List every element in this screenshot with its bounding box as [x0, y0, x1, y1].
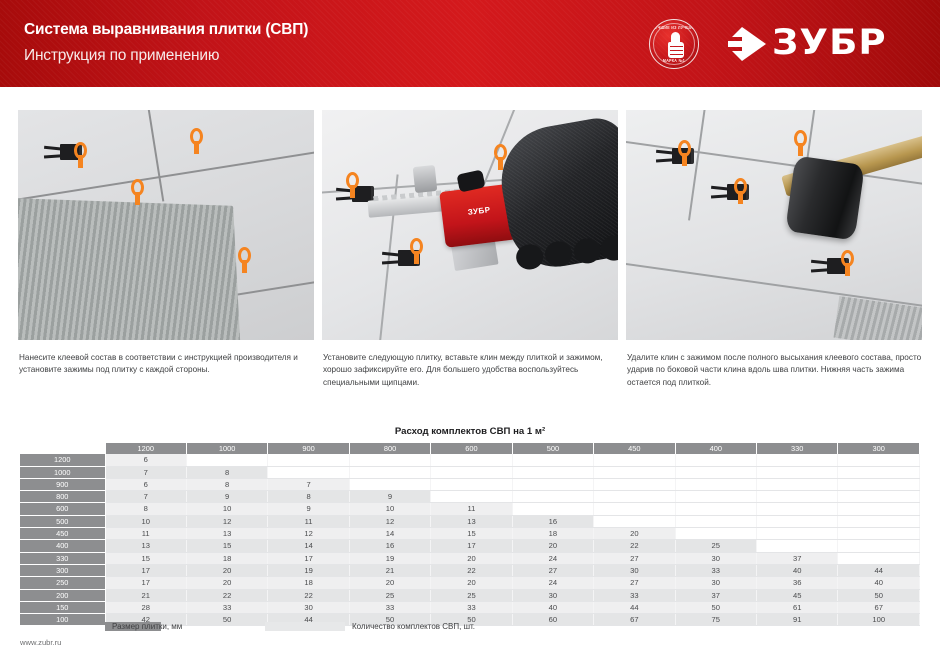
table-cell — [512, 454, 593, 466]
table-cell: 17 — [431, 540, 512, 552]
table-cell: 37 — [675, 589, 756, 601]
footer-website: www.zubr.ru — [20, 638, 61, 647]
table-cell: 33 — [431, 601, 512, 613]
table-cell: 22 — [268, 589, 349, 601]
table-cell — [757, 454, 838, 466]
table-cell: 50 — [675, 601, 756, 613]
table-cell: 9 — [268, 503, 349, 515]
table-cell — [431, 454, 512, 466]
clip-icon — [74, 142, 87, 168]
table-cell — [675, 491, 756, 503]
badge-bottom-text: МАРКА №1 — [650, 59, 698, 64]
table-cell: 8 — [268, 491, 349, 503]
table-cell: 25 — [675, 540, 756, 552]
table-cell: 40 — [512, 601, 593, 613]
table-cell: 11 — [105, 528, 186, 540]
table-cell — [757, 478, 838, 490]
table-row-header: 800 — [20, 491, 105, 503]
table-cell — [594, 454, 675, 466]
legend-label-kit-count: Количество комплектов СВП, шт. — [352, 620, 475, 633]
table-row: 45011131214151820 — [20, 528, 920, 540]
clip-icon — [678, 140, 691, 166]
table-row: 20021222225253033374550 — [20, 589, 920, 601]
table-row: 8007989 — [20, 491, 920, 503]
table-cell: 15 — [431, 528, 512, 540]
table-cell: 33 — [349, 601, 430, 613]
table-cell: 20 — [594, 528, 675, 540]
table-cell — [757, 515, 838, 527]
table-cell: 10 — [349, 503, 430, 515]
table-title: Расход комплектов СВП на 1 м² — [0, 426, 940, 437]
table-cell — [512, 503, 593, 515]
table-col-header: 400 — [675, 443, 756, 454]
table-row-header: 200 — [20, 589, 105, 601]
table-cell: 13 — [105, 540, 186, 552]
table-cell — [757, 540, 838, 552]
table-header-row: 12001000900800600500450400330300 — [20, 443, 920, 454]
clip-icon — [410, 238, 423, 264]
table-row: 25017201820202427303640 — [20, 577, 920, 589]
table-cell — [512, 478, 593, 490]
table-col-header: 1000 — [186, 443, 267, 454]
table-cell: 15 — [105, 552, 186, 564]
table-cell: 44 — [594, 601, 675, 613]
tool-screw — [413, 165, 438, 193]
table-cell: 22 — [594, 540, 675, 552]
table-cell: 9 — [186, 491, 267, 503]
table-cell — [594, 478, 675, 490]
table-cell: 30 — [512, 589, 593, 601]
table-cell: 20 — [349, 577, 430, 589]
table-col-header: 1200 — [105, 443, 186, 454]
table-cell — [594, 515, 675, 527]
table-cell: 45 — [757, 589, 838, 601]
table-cell: 33 — [594, 589, 675, 601]
table-cell: 33 — [186, 601, 267, 613]
table-row: 12006 — [20, 454, 920, 466]
clip-icon — [131, 179, 144, 205]
table-row: 500101211121316 — [20, 515, 920, 527]
page-subtitle: Инструкция по применению — [24, 47, 219, 65]
table-cell: 36 — [757, 577, 838, 589]
table-row-header: 1000 — [20, 466, 105, 478]
table-cell — [512, 466, 593, 478]
table-cell — [594, 466, 675, 478]
table-cell — [268, 454, 349, 466]
table-cell: 8 — [186, 466, 267, 478]
table-row: 900687 — [20, 478, 920, 490]
table-cell: 11 — [268, 515, 349, 527]
table-cell — [431, 491, 512, 503]
rubber-mallet-icon — [785, 155, 865, 240]
tool-brand-label: ЗУБР — [467, 205, 491, 217]
table-cell: 10 — [186, 503, 267, 515]
table-cell — [757, 491, 838, 503]
table-cell: 9 — [349, 491, 430, 503]
table-row: 15028333033334044506167 — [20, 601, 920, 613]
table-cell: 6 — [105, 454, 186, 466]
legend-swatch-kit-count — [265, 622, 345, 631]
table-cell: 28 — [105, 601, 186, 613]
table-cell — [838, 454, 920, 466]
table-body: 1200610007890068780079896008109101150010… — [20, 454, 920, 626]
header-banner: Система выравнивания плитки (СВП) Инстру… — [0, 0, 940, 87]
table-cell — [838, 491, 920, 503]
table-legend: Размер плитки, мм Количество комплектов … — [0, 620, 940, 634]
table-cell: 20 — [431, 577, 512, 589]
step-2-caption: Установите следующую плитку, вставьте кл… — [323, 352, 613, 389]
legend-label-tile-size: Размер плитки, мм — [112, 620, 182, 633]
table-cell: 40 — [838, 577, 920, 589]
clip-icon — [794, 130, 807, 156]
table-cell — [838, 540, 920, 552]
table-cell — [431, 466, 512, 478]
table-cell: 19 — [268, 564, 349, 576]
table-corner-cell — [20, 443, 105, 454]
table-col-header: 330 — [757, 443, 838, 454]
table-cell — [838, 528, 920, 540]
table-cell: 6 — [105, 478, 186, 490]
table-cell: 11 — [431, 503, 512, 515]
table-cell — [838, 478, 920, 490]
table-cell: 7 — [105, 491, 186, 503]
table-cell: 17 — [105, 564, 186, 576]
table-cell — [757, 528, 838, 540]
table-cell: 25 — [431, 589, 512, 601]
table-cell — [349, 466, 430, 478]
table-cell — [594, 503, 675, 515]
badge-top-text: ЛУЧШИЕ ИЗ ЛУЧШИХ — [650, 25, 698, 30]
table-cell: 13 — [431, 515, 512, 527]
table-cell — [512, 491, 593, 503]
table-cell: 16 — [512, 515, 593, 527]
table-row: 330151817192024273037 — [20, 552, 920, 564]
clip-icon — [190, 128, 203, 154]
step-2-photo: ЗУБР — [322, 110, 618, 340]
table-cell: 27 — [594, 552, 675, 564]
table-row-header: 150 — [20, 601, 105, 613]
table-cell: 22 — [431, 564, 512, 576]
table-col-header: 300 — [838, 443, 920, 454]
table-cell: 40 — [757, 564, 838, 576]
table-cell: 20 — [186, 577, 267, 589]
table-row-header: 500 — [20, 515, 105, 527]
table-cell: 12 — [268, 528, 349, 540]
table-cell — [675, 478, 756, 490]
table-cell: 19 — [349, 552, 430, 564]
table-cell: 30 — [594, 564, 675, 576]
table-cell — [675, 466, 756, 478]
table-col-header: 900 — [268, 443, 349, 454]
table-row-header: 600 — [20, 503, 105, 515]
table-cell: 24 — [512, 552, 593, 564]
table-cell: 67 — [838, 601, 920, 613]
table-col-header: 450 — [594, 443, 675, 454]
table-cell: 61 — [757, 601, 838, 613]
table-cell: 27 — [594, 577, 675, 589]
table-cell — [431, 478, 512, 490]
table-row-header: 1200 — [20, 454, 105, 466]
table-cell: 12 — [186, 515, 267, 527]
step-3-caption: Удалите клин с зажимом после полного выс… — [627, 352, 923, 389]
table-cell: 18 — [186, 552, 267, 564]
table-cell — [838, 466, 920, 478]
table-row-header: 250 — [20, 577, 105, 589]
table-cell — [675, 528, 756, 540]
brand-wordmark: ЗУБР — [772, 23, 887, 63]
step-3-photo — [626, 110, 922, 340]
clip-icon — [734, 178, 747, 204]
table-cell: 14 — [268, 540, 349, 552]
table-cell: 21 — [349, 564, 430, 576]
table-col-header: 600 — [431, 443, 512, 454]
table-cell: 12 — [349, 515, 430, 527]
table-cell: 37 — [757, 552, 838, 564]
table-cell — [675, 454, 756, 466]
table-cell: 33 — [675, 564, 756, 576]
table-row-header: 400 — [20, 540, 105, 552]
table-col-header: 500 — [512, 443, 593, 454]
table-cell: 27 — [512, 564, 593, 576]
quality-badge-icon: ЛУЧШИЕ ИЗ ЛУЧШИХ МАРКА №1 — [649, 19, 699, 69]
consumption-table: 12001000900800600500450400330300 1200610… — [20, 443, 920, 626]
table-cell: 21 — [105, 589, 186, 601]
table-cell: 25 — [349, 589, 430, 601]
clip-icon — [238, 247, 251, 273]
page-title: Система выравнивания плитки (СВП) — [24, 21, 308, 39]
adhesive-ridges — [18, 198, 241, 340]
table-cell — [594, 491, 675, 503]
table-cell: 7 — [268, 478, 349, 490]
table-cell — [757, 503, 838, 515]
page-root: Система выравнивания плитки (СВП) Инстру… — [0, 0, 940, 664]
table-cell — [268, 466, 349, 478]
table-cell: 14 — [349, 528, 430, 540]
table-cell: 30 — [268, 601, 349, 613]
thumbs-up-icon — [666, 32, 685, 58]
table-cell: 44 — [838, 564, 920, 576]
table-cell: 20 — [186, 564, 267, 576]
table-cell: 10 — [105, 515, 186, 527]
step-1-caption: Нанесите клеевой состав в соответствии с… — [19, 352, 309, 377]
table-cell: 30 — [675, 577, 756, 589]
step-1-photo — [18, 110, 314, 340]
table-cell: 17 — [105, 577, 186, 589]
steps-photo-row: ЗУБР — [0, 110, 940, 340]
clip-icon — [841, 250, 854, 276]
table-row-header: 300 — [20, 564, 105, 576]
table-cell: 13 — [186, 528, 267, 540]
table-col-header: 800 — [349, 443, 430, 454]
arrow-logo-icon — [728, 27, 766, 61]
table-cell: 20 — [431, 552, 512, 564]
table-row: 100078 — [20, 466, 920, 478]
table-cell — [838, 503, 920, 515]
table-cell: 7 — [105, 466, 186, 478]
table-cell: 24 — [512, 577, 593, 589]
table-cell — [349, 454, 430, 466]
table-cell: 18 — [512, 528, 593, 540]
table-cell: 17 — [268, 552, 349, 564]
table-row-header: 900 — [20, 478, 105, 490]
table-row-header: 450 — [20, 528, 105, 540]
table-cell: 22 — [186, 589, 267, 601]
table-cell: 16 — [349, 540, 430, 552]
table-row-header: 330 — [20, 552, 105, 564]
table-row: 60081091011 — [20, 503, 920, 515]
table-cell: 8 — [186, 478, 267, 490]
table-cell: 15 — [186, 540, 267, 552]
clip-icon — [346, 172, 359, 198]
table-row: 4001315141617202225 — [20, 540, 920, 552]
table-cell: 18 — [268, 577, 349, 589]
table-cell: 20 — [512, 540, 593, 552]
table-cell — [757, 466, 838, 478]
table-cell — [675, 503, 756, 515]
table-cell — [349, 478, 430, 490]
table-cell — [838, 515, 920, 527]
table-cell: 50 — [838, 589, 920, 601]
table-row: 30017201921222730334044 — [20, 564, 920, 576]
table-cell — [675, 515, 756, 527]
table-cell — [838, 552, 920, 564]
table-cell — [186, 454, 267, 466]
table-cell: 8 — [105, 503, 186, 515]
table-cell: 30 — [675, 552, 756, 564]
